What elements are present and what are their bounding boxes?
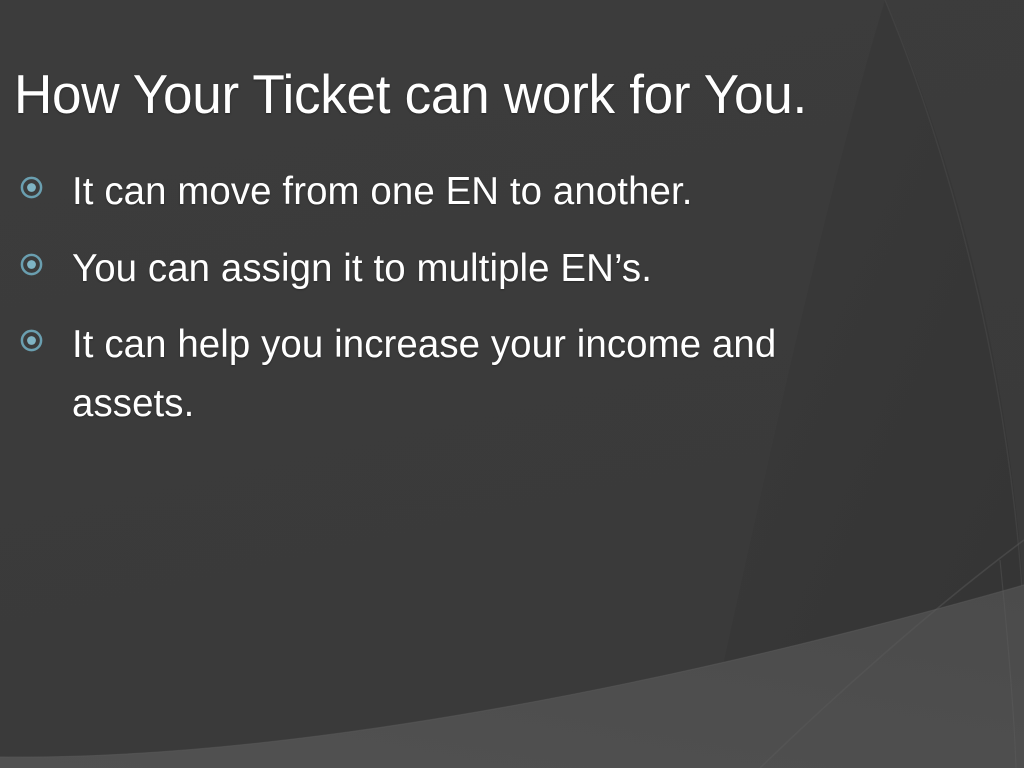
fisheye-bullet-icon bbox=[20, 176, 43, 199]
list-item: It can help you increase your income and… bbox=[20, 316, 900, 433]
list-item-label: It can help you increase your income and… bbox=[72, 316, 850, 433]
fisheye-bullet-icon bbox=[20, 329, 43, 352]
list-item: It can move from one EN to another. bbox=[20, 163, 900, 222]
list-item-label: You can assign it to multiple EN’s. bbox=[72, 240, 888, 299]
slide-bullet-list: It can move from one EN to another. You … bbox=[20, 163, 900, 451]
slide-title: How Your Ticket can work for You. bbox=[14, 65, 940, 124]
list-item-label: It can move from one EN to another. bbox=[72, 163, 888, 222]
presentation-slide: How Your Ticket can work for You. It can… bbox=[0, 0, 1024, 768]
fisheye-bullet-icon bbox=[20, 253, 43, 276]
list-item: You can assign it to multiple EN’s. bbox=[20, 240, 900, 299]
